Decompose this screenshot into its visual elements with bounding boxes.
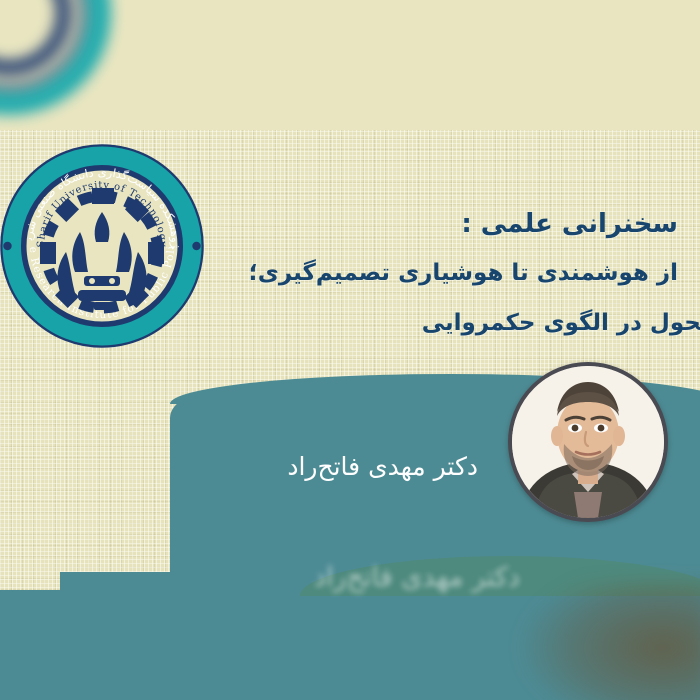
- title-line-3: درآمدی بر تحول در الگوی حکمروایی: [118, 306, 700, 342]
- title-line-2: از هوشمندی تا هوشیاری تصمیم‌گیری؛: [118, 256, 678, 292]
- title-line-1: سخنرانی علمی :: [118, 204, 678, 244]
- speaker-portrait: [508, 362, 668, 522]
- blurred-logo-decoration: [0, 0, 114, 118]
- speaker-name-ghost: دکتر مهدی فاتح‌راد: [314, 562, 520, 593]
- speaker-name: دکتر مهدی فاتح‌راد: [287, 452, 478, 481]
- teal-footer-band: [0, 590, 700, 700]
- title-block: سخنرانی علمی : از هوشمندی تا هوشیاری تصم…: [118, 204, 678, 342]
- seminar-poster: پژوهشکده سیاست‌گذاری دانشگاه صنعتی شریف …: [0, 0, 700, 700]
